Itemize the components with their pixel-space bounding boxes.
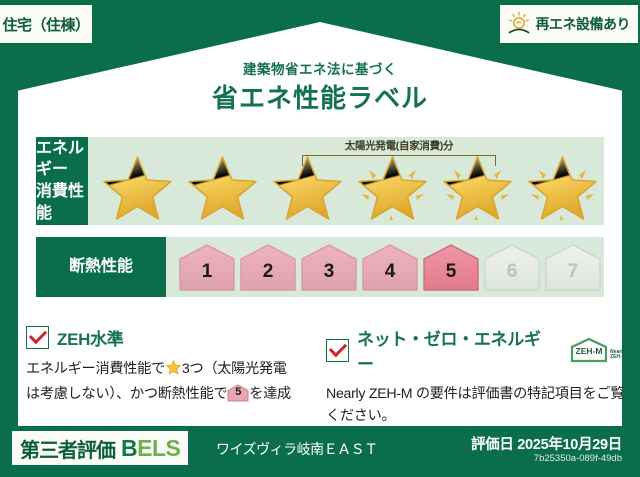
bels-letters-els: ELS xyxy=(137,435,180,461)
zeh-desc-starcount: 3つ（太陽光発電 xyxy=(182,361,287,377)
insulation-caption-label: 断熱性能 xyxy=(69,256,133,278)
energy-caption-line2: 消費性能 xyxy=(36,181,88,224)
insulation-level-4: 4 xyxy=(361,242,419,292)
evaluation-date: 評価日 2025年10月29日 xyxy=(471,433,622,454)
zeh-standard-section: ZEH水準 エネルギー消費性能で3つ（太陽光発電 は考慮しない）、かつ断熱性能で… xyxy=(26,325,316,405)
star-solar xyxy=(436,148,519,220)
renewable-label: 再エネ設備あり xyxy=(536,14,631,34)
insulation-badges-panel: 1 2 3 4 5 xyxy=(166,237,604,297)
zeh-m-logo-icon: ZEH-M Nearly ZEH-M xyxy=(569,337,626,363)
dwelling-type-tag: 住宅（住棟） xyxy=(0,5,92,43)
insulation-level-3: 3 xyxy=(300,242,358,292)
insulation-level-1: 1 xyxy=(178,242,236,292)
net-zero-description: Nearly ZEH-M の要件は評価書の特記項目をご覧ください。 xyxy=(326,383,626,427)
insulation-level-value: 3 xyxy=(324,261,335,292)
insulation-level-7: 7 xyxy=(544,242,602,292)
insulation-performance-row: 断熱性能 1 2 3 xyxy=(36,237,604,297)
energy-performance-caption: エネルギー 消費性能 xyxy=(36,137,88,225)
energy-caption-line1: エネルギー xyxy=(36,138,88,181)
bels-letter-b: B xyxy=(121,435,137,461)
zeh-standard-header: ZEH水準 xyxy=(26,325,316,350)
star-solar xyxy=(351,148,434,220)
netzero-checkbox-checked-icon[interactable] xyxy=(326,339,349,362)
bels-certification-tag: 第三者評価 BELS xyxy=(12,431,188,465)
insulation-level-5: 5 xyxy=(422,242,480,292)
zehm-logo-sub-line2: ZEH-M xyxy=(610,355,626,360)
star-solar xyxy=(521,148,604,220)
net-zero-title: ネット・ゼロ・エネルギー xyxy=(357,325,557,375)
insulation-level-value: 5 xyxy=(446,261,457,292)
zeh-checkbox-checked-icon[interactable] xyxy=(26,326,49,349)
svg-text:ZEH-M: ZEH-M xyxy=(576,346,603,356)
star-rating-group xyxy=(88,148,604,220)
insulation-level-6: 6 xyxy=(483,242,541,292)
insulation-level-value: 4 xyxy=(385,261,396,292)
energy-performance-row: エネルギー 消費性能 太陽光発電(自家消費)分 xyxy=(36,137,604,225)
star-filled xyxy=(266,148,349,220)
insulation-level-value: 7 xyxy=(568,261,579,292)
label-subtitle: 建築物省エネ法に基づく xyxy=(0,58,640,78)
building-name: ワイズヴィラ岐南ＥＡＳＴ xyxy=(216,439,378,459)
net-zero-header: ネット・ゼロ・エネルギー ZEH-M Nearly ZEH-M xyxy=(326,325,626,375)
energy-stars-panel: 太陽光発電(自家消費)分 xyxy=(88,137,604,225)
label-title: 省エネ性能ラベル xyxy=(0,78,640,115)
zeh-standard-title: ZEH水準 xyxy=(57,325,124,350)
net-zero-energy-section: ネット・ゼロ・エネルギー ZEH-M Nearly ZEH-M Nearly Z… xyxy=(326,325,626,427)
insulation-level-group: 1 2 3 4 5 xyxy=(166,242,602,292)
insulation-caption: 断熱性能 xyxy=(36,237,166,297)
energy-performance-label: 住宅（住棟） 再エネ設備あり 建築物省エネ法に基づく 省エネ性能ラベル エネル xyxy=(0,0,640,477)
insulation-level-2: 2 xyxy=(239,242,297,292)
zeh-desc-part1: エネルギー消費性能で xyxy=(26,361,165,377)
insulation-level-value: 2 xyxy=(263,261,274,292)
evaluation-id: 7b25350a-089f-49db xyxy=(534,453,622,464)
inline-star-icon xyxy=(165,359,182,383)
zeh-desc-part3: を達成 xyxy=(249,386,291,402)
footer-bar: 第三者評価 BELS ワイズヴィラ岐南ＥＡＳＴ 評価日 2025年10月29日 … xyxy=(0,425,640,477)
inline-badge-value: 5 xyxy=(227,384,249,401)
insulation-level-value: 1 xyxy=(202,261,213,292)
bels-logo-text: BELS xyxy=(121,435,180,462)
third-party-eval-label: 第三者評価 xyxy=(20,434,115,463)
insulation-level-value: 6 xyxy=(507,261,518,292)
star-filled xyxy=(181,148,264,220)
star-filled xyxy=(96,148,179,220)
zeh-desc-part2: は考慮しない）、かつ断熱性能で xyxy=(26,386,227,402)
sun-solar-icon xyxy=(506,11,532,37)
renewable-equipment-tag: 再エネ設備あり xyxy=(500,5,639,43)
zeh-standard-description: エネルギー消費性能で3つ（太陽光発電 は考慮しない）、かつ断熱性能で5を達成 xyxy=(26,358,316,405)
inline-insulation-badge: 5 xyxy=(227,384,249,402)
dwelling-type-label: 住宅（住棟） xyxy=(2,14,89,35)
